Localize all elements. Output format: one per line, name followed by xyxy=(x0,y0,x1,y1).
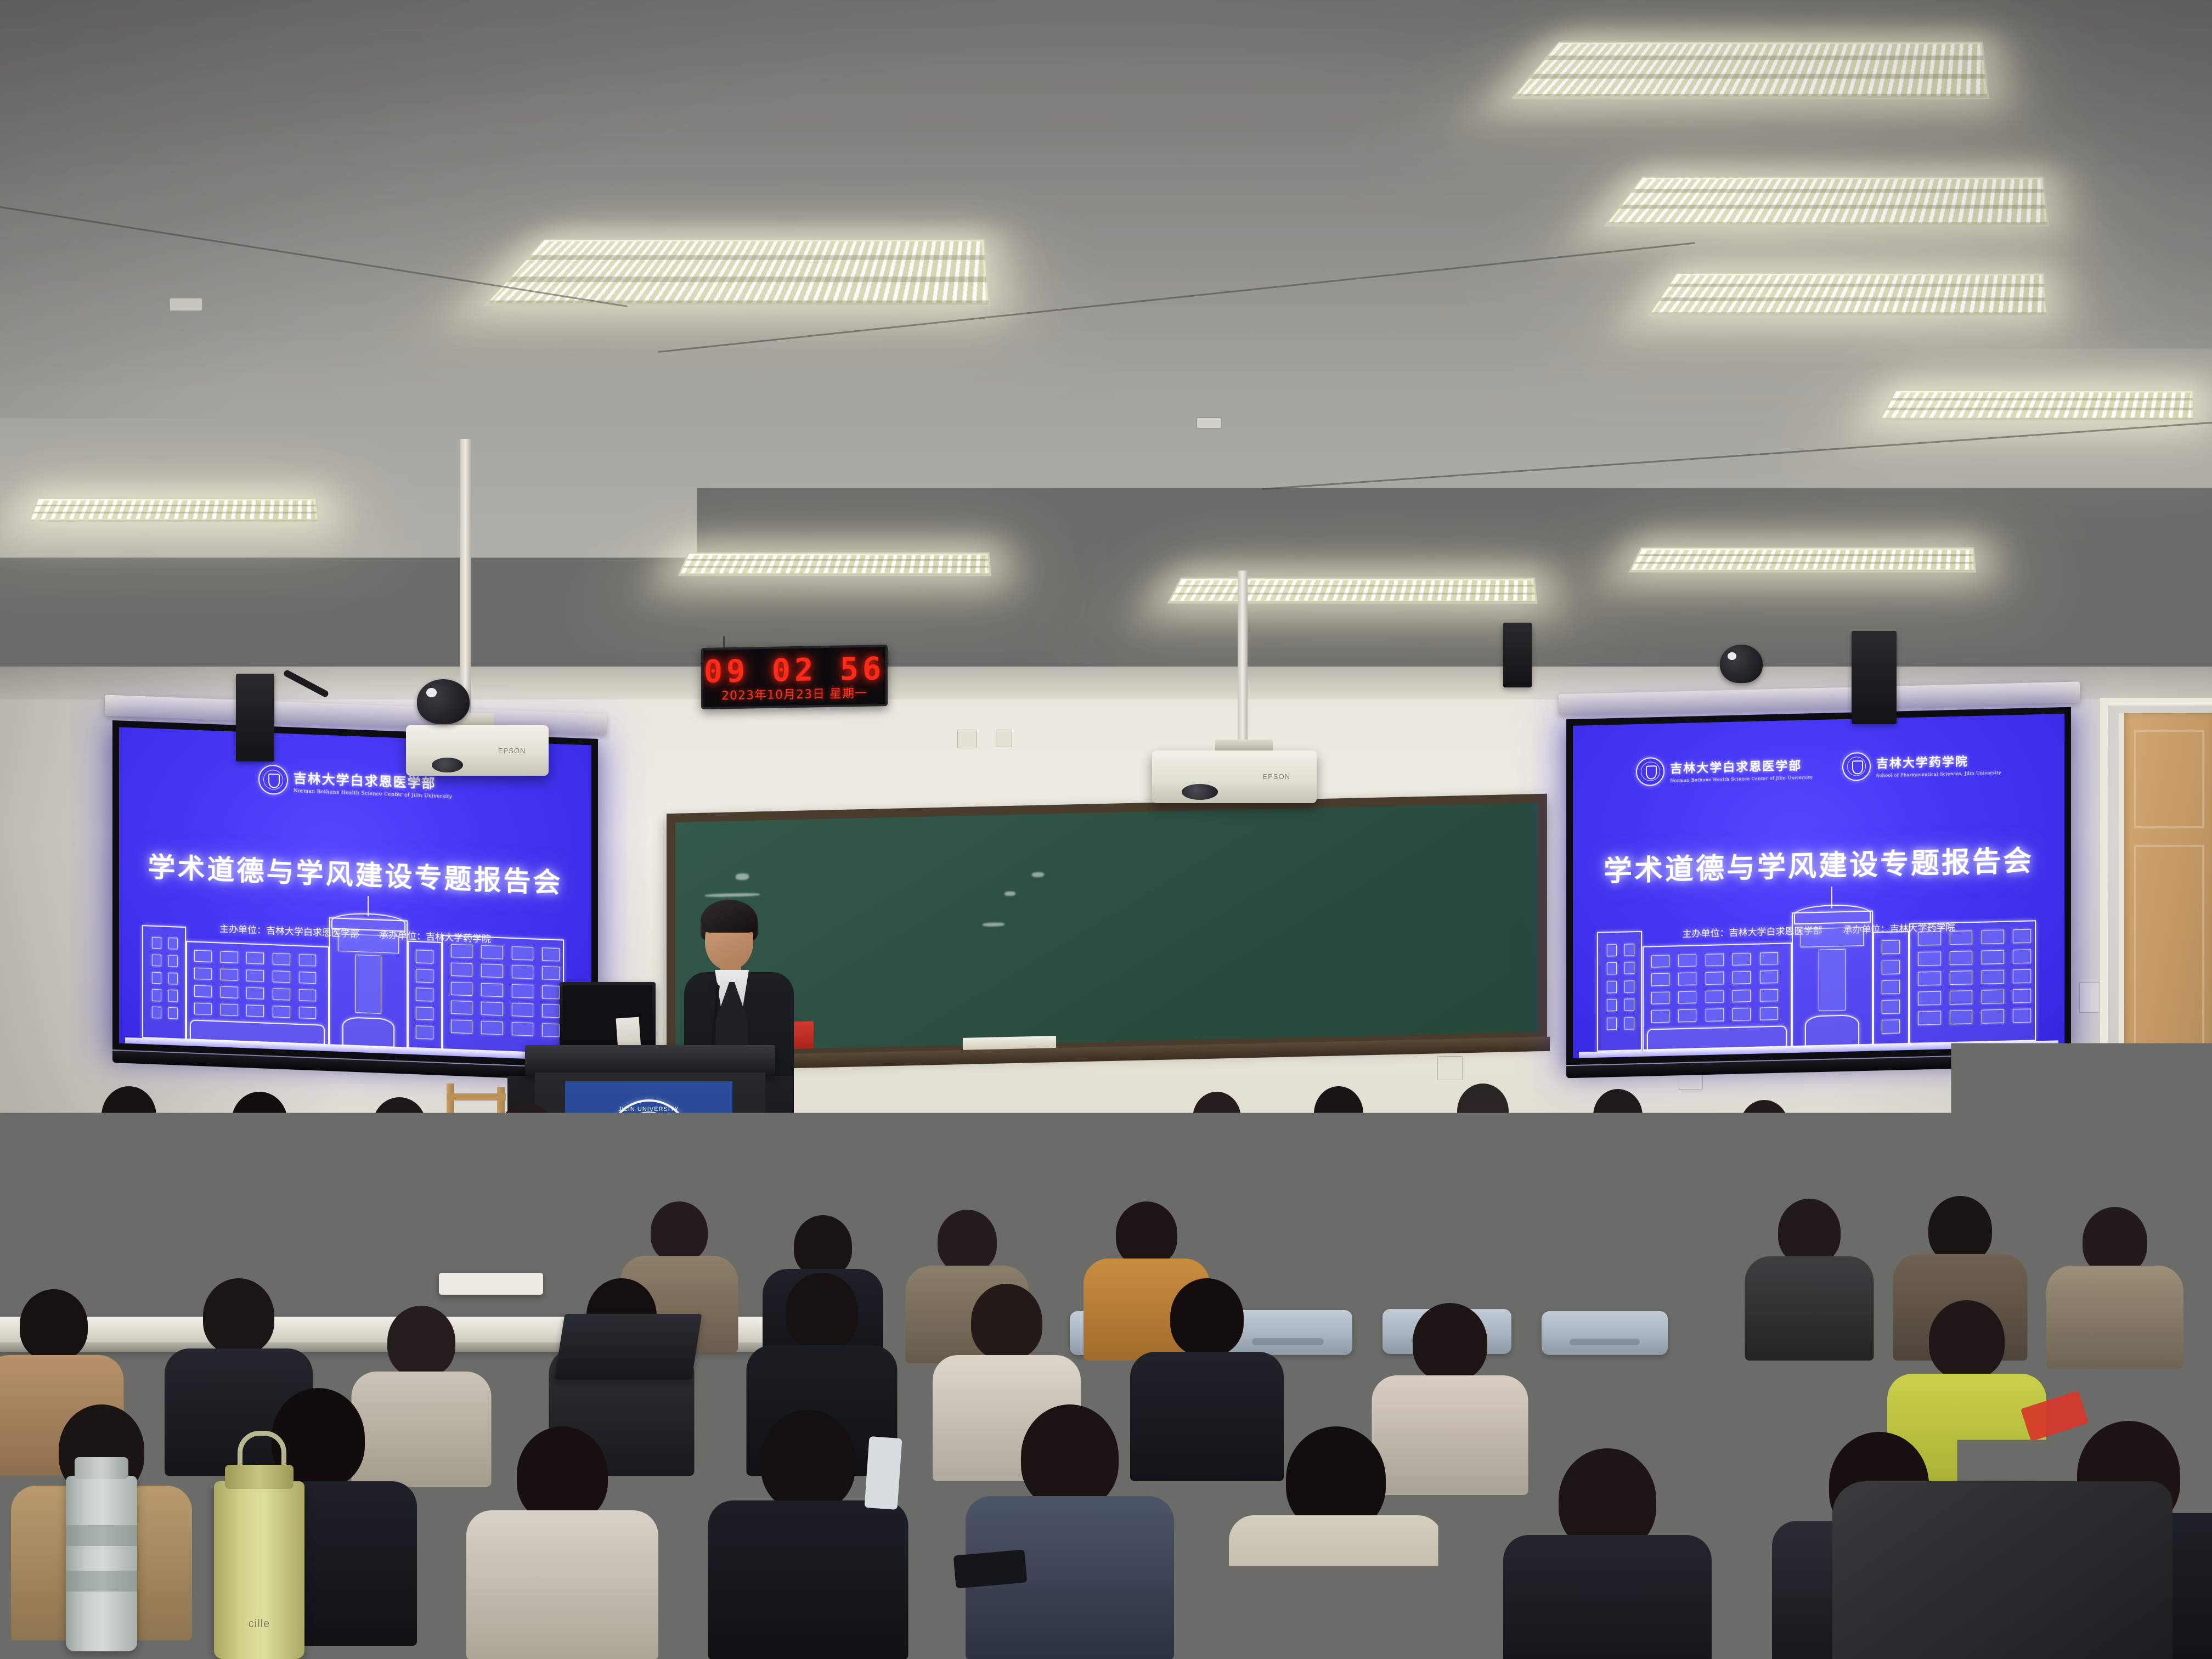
person-head xyxy=(127,1180,186,1243)
building-window xyxy=(194,968,212,980)
building-window xyxy=(542,967,560,980)
green-chalkboard xyxy=(667,794,1547,1060)
building-window xyxy=(1706,1009,1724,1022)
chalk-mark xyxy=(736,873,749,881)
audience-person xyxy=(1292,1086,1385,1214)
speaker-hair-front xyxy=(702,907,757,933)
building-window xyxy=(512,965,534,979)
building-window xyxy=(1801,927,1864,947)
tablet-device[interactable] xyxy=(554,1314,702,1380)
building-window xyxy=(512,946,534,960)
person-head xyxy=(1929,1300,2005,1379)
building-window xyxy=(273,1006,290,1018)
building-window xyxy=(1706,972,1724,985)
building-window xyxy=(1733,971,1751,984)
building-block xyxy=(1597,931,1642,1051)
bottle-band xyxy=(66,1525,137,1546)
ceiling-light-panel xyxy=(1167,578,1538,604)
notebook-on-desk[interactable] xyxy=(439,1273,543,1295)
chalkboard-surface xyxy=(675,803,1538,1052)
building-window xyxy=(1651,992,1669,1005)
person-head xyxy=(425,1188,483,1249)
building-flagpole xyxy=(368,896,369,916)
screen-frame: 吉林大学白求恩医学部 Norman Bethune Health Science… xyxy=(1566,707,2071,1065)
building-window xyxy=(2013,929,2031,944)
building-window xyxy=(542,985,560,999)
building-window xyxy=(1624,998,1634,1011)
building-window xyxy=(416,969,433,983)
slide-building-graphic xyxy=(138,899,572,1060)
building-window xyxy=(1607,944,1617,957)
building-window xyxy=(152,1007,161,1019)
person-head xyxy=(2083,1207,2147,1275)
lecture-seat[interactable] xyxy=(1547,1234,1660,1273)
building-window xyxy=(168,938,178,950)
room-door-right[interactable] xyxy=(2119,713,2212,1174)
building-window xyxy=(1706,953,1724,966)
building-window xyxy=(1982,1009,2004,1024)
building-window xyxy=(1918,991,1940,1006)
building-window xyxy=(2013,949,2031,963)
building-window xyxy=(152,972,161,984)
building-window xyxy=(1733,990,1751,1002)
podium-monitor[interactable] xyxy=(560,982,656,1048)
smartphone[interactable] xyxy=(953,1549,1028,1588)
building-window xyxy=(1607,999,1617,1012)
building-window xyxy=(542,947,560,961)
building-window xyxy=(273,953,290,965)
slide-title-left: 学术道德与学风建设专题报告会 xyxy=(119,844,591,902)
building-window xyxy=(1882,940,1900,955)
building-window xyxy=(1982,930,2004,944)
jilin-university-bethune-seal-icon xyxy=(258,764,288,795)
person-body xyxy=(2046,1266,2183,1369)
building-window xyxy=(1678,991,1696,1003)
camera-indicator xyxy=(1728,652,1736,660)
building-window xyxy=(299,1007,317,1019)
building-window xyxy=(194,985,212,997)
person-head xyxy=(268,1166,330,1232)
person-head xyxy=(2130,1147,2182,1201)
building-window xyxy=(1950,990,1972,1005)
person-body xyxy=(1229,1515,1443,1659)
podium-top-surface xyxy=(525,1045,775,1076)
bottle-brand-label: cille xyxy=(214,1618,304,1630)
building-window xyxy=(1950,951,1972,965)
wall-outlet[interactable] xyxy=(996,730,1012,747)
paper-stack[interactable] xyxy=(963,1036,1056,1050)
person-head xyxy=(387,1306,455,1377)
lecture-seat[interactable] xyxy=(1404,1233,1517,1272)
building-window xyxy=(1760,970,1778,983)
building-window xyxy=(1882,960,1900,974)
wall-speaker-left xyxy=(236,674,274,761)
building-window xyxy=(168,955,178,967)
wall-speaker-mid-right xyxy=(1503,623,1532,687)
projector-brand-label: EPSON xyxy=(1262,772,1290,781)
ceiling-camera-left xyxy=(417,679,470,724)
building-window xyxy=(451,963,473,977)
building-window xyxy=(299,989,317,1001)
building-window xyxy=(1982,990,2004,1004)
building-window xyxy=(1760,1007,1778,1020)
building-window xyxy=(299,972,317,984)
logo-unit-pharmacy: 吉林大学药学院 School of Pharmaceutical Science… xyxy=(1842,748,2001,781)
building-window xyxy=(1882,980,1900,994)
audience-person xyxy=(1745,1199,1874,1361)
building-window xyxy=(1607,962,1617,975)
building-window xyxy=(273,988,290,1000)
audience-person xyxy=(1503,1448,1712,1659)
person-head xyxy=(1021,1404,1119,1509)
building-window xyxy=(1733,953,1751,966)
person-body xyxy=(1503,1535,1712,1659)
audience-person xyxy=(966,1404,1174,1659)
ceiling-light-panel xyxy=(1647,273,2048,316)
person-body xyxy=(466,1510,658,1659)
building-window xyxy=(221,968,238,980)
ceiling-light-panel xyxy=(1878,390,2194,421)
building-window xyxy=(1882,1020,1900,1034)
building-window xyxy=(416,988,433,1001)
person-head xyxy=(761,1410,855,1511)
smartphone[interactable] xyxy=(865,1436,902,1510)
building-window xyxy=(1733,1008,1751,1020)
slide-building-graphic xyxy=(1593,894,2045,1058)
person-body xyxy=(1292,1131,1385,1214)
bottle-cap xyxy=(1149,1198,1172,1215)
bottle-cap[interactable] xyxy=(75,1457,129,1479)
building-window xyxy=(512,1003,534,1017)
building-window xyxy=(481,1002,503,1015)
person-head xyxy=(938,1210,997,1272)
person-head xyxy=(651,1201,708,1262)
building-window xyxy=(246,1005,264,1017)
building-window xyxy=(1624,1017,1634,1030)
chair-back-rail xyxy=(447,1093,506,1101)
building-window xyxy=(1918,932,1940,946)
building-window xyxy=(451,982,473,996)
ceiling-camera-right xyxy=(1720,645,1763,683)
lecture-seat[interactable] xyxy=(1262,1234,1374,1273)
building-window xyxy=(1706,990,1724,1003)
building-window xyxy=(168,990,178,1002)
clock-hanger xyxy=(723,636,725,648)
building-window xyxy=(1950,931,1972,945)
wall-speaker-right xyxy=(1852,631,1897,724)
person-head xyxy=(794,1215,852,1277)
building-window xyxy=(221,951,238,963)
ceiling-light-panel xyxy=(28,498,319,522)
projection-screen-right: 吉林大学白求恩医学部 Norman Bethune Health Science… xyxy=(1566,707,2071,1065)
olive-thermos-bottle[interactable]: cille xyxy=(214,1481,304,1659)
ceiling-light-panel xyxy=(678,552,991,576)
building-entrance xyxy=(1805,1014,1859,1046)
person-body xyxy=(1745,1256,1874,1361)
smoke-detector xyxy=(1196,417,1222,429)
podium-emblem-en-text: JILIN UNIVERSITY CHINA xyxy=(610,1106,688,1119)
ceiling-light-panel xyxy=(1511,42,1989,99)
logo-unit-bethune: 吉林大学白求恩医学部 Norman Bethune Health Science… xyxy=(1636,753,1813,786)
building-flagpole xyxy=(1831,887,1832,908)
slide-title-right: 学术道德与学风建设专题报告会 xyxy=(1573,837,2064,890)
smoke-detector xyxy=(169,297,203,312)
person-body xyxy=(1569,1134,1667,1215)
door-panel-top xyxy=(2134,730,2204,828)
lecture-seat[interactable] xyxy=(1542,1311,1668,1355)
building-window xyxy=(416,1007,433,1020)
building-window xyxy=(2013,989,2031,1003)
projector-lens xyxy=(432,758,463,773)
building-arcade xyxy=(1647,1025,1787,1050)
person-head xyxy=(1413,1303,1487,1381)
projector-center: EPSON xyxy=(1152,751,1317,803)
chalk-mark xyxy=(1032,872,1044,877)
building-window xyxy=(299,954,317,966)
person-head xyxy=(20,1289,88,1361)
building-window xyxy=(273,970,290,983)
audience-person xyxy=(466,1426,658,1659)
building-window xyxy=(194,950,212,962)
building-window xyxy=(1678,973,1696,985)
ceiling-light-panel xyxy=(1628,548,1976,573)
digital-wall-clock: 09 02 56 2023年10月23日 星期一 xyxy=(701,645,888,709)
building-window xyxy=(1678,1009,1696,1022)
lecture-hall-photo: 09 02 56 2023年10月23日 星期一 吉林大学白求恩医学部 Norm… xyxy=(0,0,2212,1659)
building-window xyxy=(1819,949,1846,1011)
building-window xyxy=(221,986,238,998)
building-window xyxy=(1624,944,1634,956)
building-window xyxy=(1982,970,2004,984)
person-head xyxy=(1170,1278,1244,1356)
building-window xyxy=(194,1002,212,1014)
jilin-university-bethune-seal-icon xyxy=(1636,757,1664,786)
projector-lens xyxy=(1182,784,1218,800)
bottle-band xyxy=(66,1571,137,1592)
building-window xyxy=(1918,951,1940,966)
building-window xyxy=(1624,962,1634,974)
audience-person xyxy=(1569,1089,1667,1215)
building-window xyxy=(168,972,178,984)
building-window xyxy=(481,945,503,959)
building-window xyxy=(1651,1010,1669,1023)
logo-cn-text: 吉林大学药学院 xyxy=(1876,751,2001,771)
audience-person xyxy=(1432,1084,1534,1214)
building-entrance xyxy=(342,1017,394,1048)
slide-content-left: 吉林大学白求恩医学部 Norman Bethune Health Science… xyxy=(119,727,591,1061)
ceiling-shading xyxy=(0,0,2212,708)
wall-outlet[interactable] xyxy=(957,730,977,748)
jilin-university-pharmacy-seal-icon xyxy=(1842,752,1871,781)
building-window xyxy=(451,1019,473,1033)
building-window xyxy=(1760,952,1778,965)
person-head xyxy=(517,1426,608,1523)
camera-indicator xyxy=(426,688,437,697)
building-window xyxy=(152,989,161,1001)
audience-person xyxy=(2046,1207,2183,1369)
building-window xyxy=(168,1007,178,1019)
person-body xyxy=(1432,1130,1534,1214)
building-window xyxy=(1607,1018,1617,1030)
building-window xyxy=(542,1023,560,1037)
clock-date-display: 2023年10月23日 星期一 xyxy=(703,683,885,704)
building-window xyxy=(1950,1010,1972,1024)
building-window xyxy=(338,934,399,953)
projector-pole-center xyxy=(1238,571,1248,746)
person-body xyxy=(708,1500,908,1659)
building-window xyxy=(451,1001,473,1014)
small-water-bottle[interactable] xyxy=(1144,1212,1178,1284)
projector-brand-label: EPSON xyxy=(498,747,526,755)
building-window xyxy=(512,1022,534,1036)
building-window xyxy=(1624,980,1634,993)
slide-content-right: 吉林大学白求恩医学部 Norman Bethune Health Science… xyxy=(1573,714,2064,1058)
building-window xyxy=(481,964,503,978)
building-window xyxy=(1651,973,1669,986)
backpack[interactable] xyxy=(1832,1481,2172,1659)
door-panel-bottom xyxy=(2134,845,2204,1152)
building-window xyxy=(416,950,433,963)
slide-logo-row: 吉林大学白求恩医学部 Norman Bethune Health Science… xyxy=(1573,747,2064,788)
suspended-ceiling xyxy=(0,0,2212,708)
building-window xyxy=(1950,970,1972,985)
building-window xyxy=(1918,971,1940,985)
person-head xyxy=(203,1278,274,1354)
person-head xyxy=(786,1273,858,1350)
person-head xyxy=(1778,1199,1841,1265)
building-block xyxy=(142,925,185,1040)
building-window xyxy=(356,955,382,1014)
audience-person xyxy=(1229,1426,1443,1659)
logo-en-text: School of Pharmaceutical Sciences, Jilin… xyxy=(1876,770,2001,778)
building-window xyxy=(1678,954,1696,967)
building-window xyxy=(246,987,264,999)
building-window xyxy=(152,954,161,966)
building-window xyxy=(1760,989,1778,1002)
building-window xyxy=(1607,981,1617,994)
projector-left: EPSON xyxy=(406,725,549,776)
building-window xyxy=(246,952,264,964)
person-head xyxy=(1928,1196,1992,1263)
building-window xyxy=(1651,955,1669,968)
building-window xyxy=(2013,1009,2031,1023)
building-window xyxy=(481,1021,503,1035)
building-window xyxy=(512,984,534,998)
person-head xyxy=(971,1284,1042,1359)
building-window xyxy=(481,983,503,997)
building-window xyxy=(221,1003,238,1015)
bottle-cap[interactable] xyxy=(225,1465,294,1489)
wall-outlet[interactable] xyxy=(2079,982,2100,1013)
building-window xyxy=(1982,950,2004,964)
building-window xyxy=(1918,1011,1940,1025)
chalk-mark xyxy=(1005,891,1015,896)
gray-thermos-bottle[interactable] xyxy=(66,1476,137,1651)
building-window xyxy=(152,937,161,949)
building-window xyxy=(246,969,264,981)
building-window xyxy=(542,1004,560,1018)
logo-cn-text: 吉林大学白求恩医学部 xyxy=(1670,755,1813,776)
building-window xyxy=(451,944,473,958)
building-window xyxy=(2013,969,2031,983)
building-window xyxy=(1882,1000,1900,1014)
building-window xyxy=(416,1025,433,1039)
wall-outlet[interactable] xyxy=(1437,1056,1463,1080)
ceiling-light-panel xyxy=(1604,177,2049,227)
